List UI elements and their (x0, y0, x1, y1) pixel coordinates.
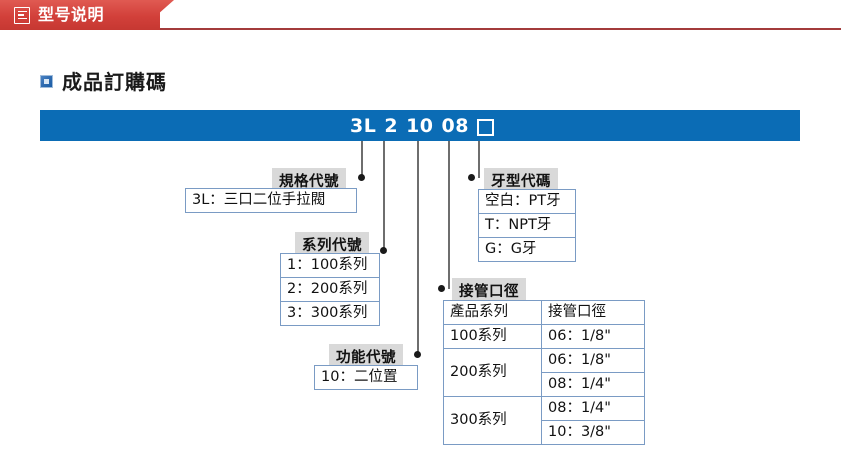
code-segment-spec: 3L (346, 115, 380, 137)
table-row: 200系列 06：1/8" (444, 349, 645, 373)
leader-line-thread (478, 141, 480, 178)
value-list-thread-code: 空白：PT牙 T：NPT牙 G：G牙 (478, 189, 576, 262)
cell-size-100-1: 06：1/8" (542, 325, 645, 349)
value-list-series-code: 1：100系列 2：200系列 3：300系列 (280, 253, 380, 326)
column-header-port: 接管口徑 (542, 301, 645, 325)
cell-series-200: 200系列 (444, 349, 542, 397)
table-header-row: 產品系列 接管口徑 (444, 301, 645, 325)
product-code-text: 3L 2 10 08 (40, 110, 800, 141)
code-segment-function: 10 (402, 115, 437, 137)
leader-dot-thread (468, 174, 475, 181)
list-item: T：NPT牙 (479, 214, 575, 238)
product-code-bar: 3L 2 10 08 (40, 110, 800, 141)
code-segment-series: 2 (380, 115, 402, 137)
code-segment-thread-placeholder (477, 119, 494, 136)
leader-line-spec (361, 141, 363, 178)
table-row: 300系列 08：1/4" (444, 397, 645, 421)
cell-size-200-2: 08：1/4" (542, 373, 645, 397)
document-icon (14, 7, 30, 24)
list-item: G：G牙 (479, 238, 575, 261)
table-row: 100系列 06：1/8" (444, 325, 645, 349)
column-header-series: 產品系列 (444, 301, 542, 325)
cell-size-300-1: 08：1/4" (542, 397, 645, 421)
list-item: 2：200系列 (281, 278, 379, 302)
code-segment-port: 08 (438, 115, 473, 137)
leader-dot-series (380, 247, 387, 254)
leader-dot-port (438, 285, 445, 292)
cell-size-300-2: 10：3/8" (542, 421, 645, 445)
page-title: 成品訂購碼 (62, 66, 167, 95)
square-bullet-icon (40, 75, 53, 88)
list-item: 3：300系列 (281, 302, 379, 325)
cell-size-200-1: 06：1/8" (542, 349, 645, 373)
leader-dot-function (414, 351, 421, 358)
leader-line-series (383, 141, 385, 251)
value-function-code: 10：二位置 (314, 365, 418, 390)
cell-series-100: 100系列 (444, 325, 542, 349)
value-spec-code: 3L：三口二位手拉閥 (185, 188, 357, 213)
port-size-table: 產品系列 接管口徑 100系列 06：1/8" 200系列 06：1/8" 08… (443, 300, 645, 445)
list-item: 1：100系列 (281, 254, 379, 278)
list-item: 空白：PT牙 (479, 190, 575, 214)
leader-line-function (417, 141, 419, 355)
page-header: 型号说明 (0, 0, 841, 32)
cell-series-300: 300系列 (444, 397, 542, 445)
leader-line-port (448, 141, 450, 289)
header-title: 型号说明 (38, 4, 104, 26)
leader-dot-spec (358, 174, 365, 181)
section-title-row: 成品訂購碼 (40, 66, 167, 95)
